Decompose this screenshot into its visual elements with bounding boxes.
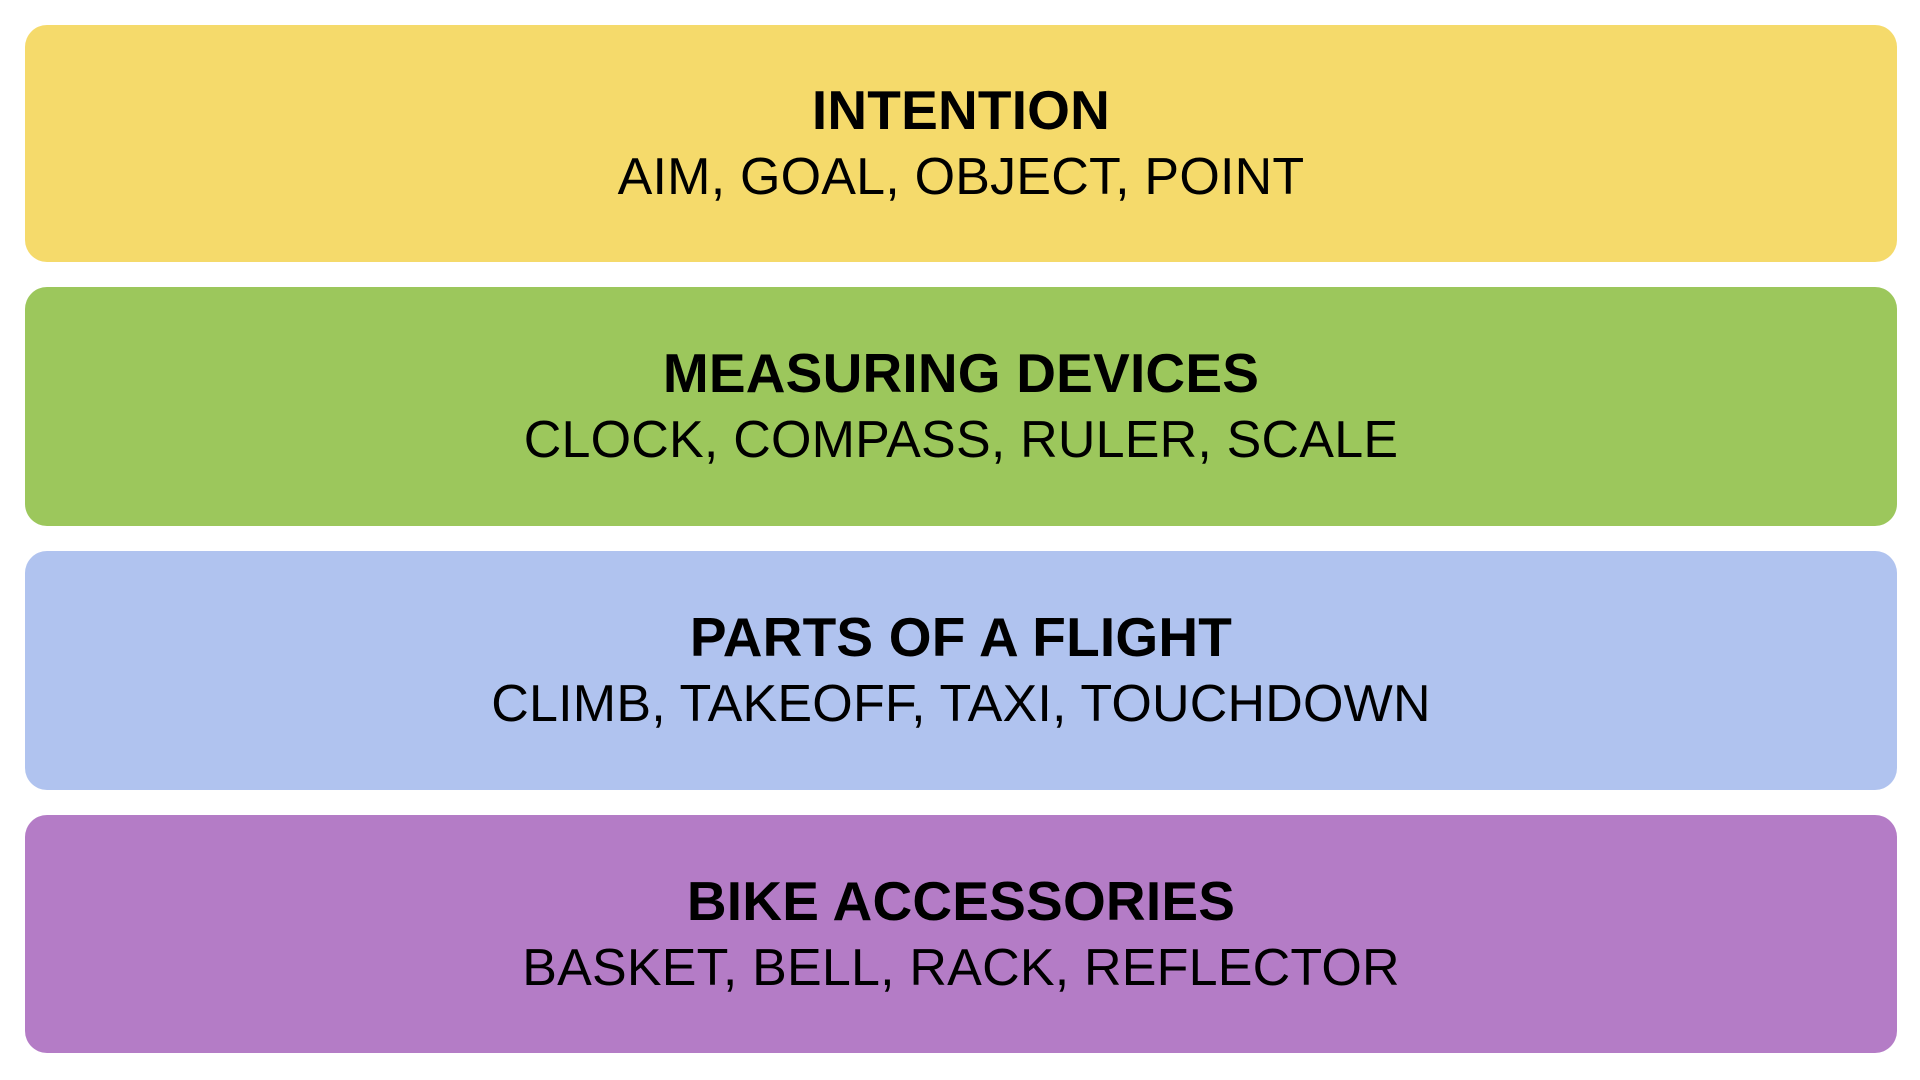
category-card-parts-of-a-flight[interactable]: PARTS OF A FLIGHT CLIMB, TAKEOFF, TAXI, … xyxy=(25,551,1897,790)
connections-answers-board: INTENTION AIM, GOAL, OBJECT, POINT MEASU… xyxy=(0,0,1920,1080)
category-card-intention[interactable]: INTENTION AIM, GOAL, OBJECT, POINT xyxy=(25,25,1897,262)
category-members: CLOCK, COMPASS, RULER, SCALE xyxy=(524,412,1398,468)
category-card-bike-accessories[interactable]: BIKE ACCESSORIES BASKET, BELL, RACK, REF… xyxy=(25,815,1897,1054)
category-members: CLIMB, TAKEOFF, TAXI, TOUCHDOWN xyxy=(491,676,1430,732)
category-members: BASKET, BELL, RACK, REFLECTOR xyxy=(522,940,1400,996)
category-card-measuring-devices[interactable]: MEASURING DEVICES CLOCK, COMPASS, RULER,… xyxy=(25,287,1897,527)
category-members: AIM, GOAL, OBJECT, POINT xyxy=(618,149,1305,205)
category-title: MEASURING DEVICES xyxy=(663,344,1259,402)
category-title: PARTS OF A FLIGHT xyxy=(690,608,1232,666)
category-title: BIKE ACCESSORIES xyxy=(687,872,1235,930)
category-title: INTENTION xyxy=(812,81,1110,139)
